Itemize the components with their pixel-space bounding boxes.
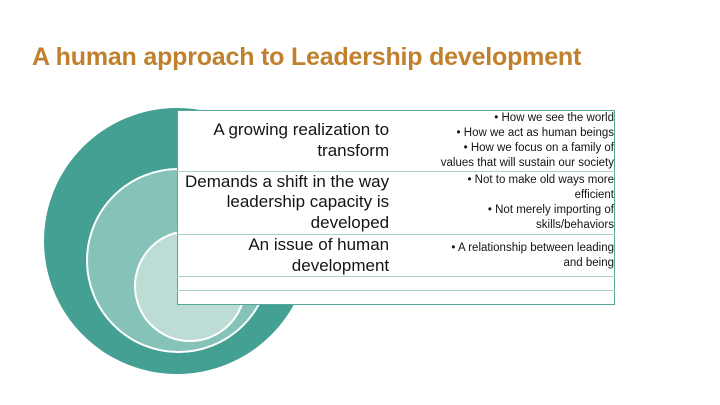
row-bullets-cell bbox=[389, 277, 614, 291]
row-heading-text: An issue of human development bbox=[248, 235, 389, 275]
bullet-line: • How we act as human beings bbox=[389, 126, 614, 141]
bullet-line: • How we focus on a family of bbox=[389, 141, 614, 156]
row-heading-cell: A growing realization to transform bbox=[178, 111, 390, 172]
bullet-line: skills/behaviors bbox=[389, 218, 614, 233]
slide-canvas: A human approach to Leadership developme… bbox=[0, 0, 720, 405]
row-heading-cell bbox=[178, 277, 390, 291]
bullet-line: • How we see the world bbox=[389, 111, 614, 126]
table-row: Demands a shift in the way leadership ca… bbox=[178, 171, 615, 234]
row-heading-cell bbox=[178, 291, 390, 305]
bullet-line: • Not to make old ways more bbox=[389, 173, 614, 188]
page-title: A human approach to Leadership developme… bbox=[32, 43, 581, 72]
table-row-empty bbox=[178, 291, 615, 305]
matrix-body: A growing realization to transform • How… bbox=[178, 111, 615, 305]
table-row: An issue of human development • A relati… bbox=[178, 234, 615, 276]
table-row: A growing realization to transform • How… bbox=[178, 111, 615, 172]
bullet-line: • A relationship between leading bbox=[389, 241, 614, 256]
table-row-empty bbox=[178, 277, 615, 291]
row-bullets-cell: • How we see the world • How we act as h… bbox=[389, 111, 614, 172]
bullet-line: and being bbox=[389, 256, 614, 271]
bullet-line: • Not merely importing of bbox=[389, 203, 614, 218]
row-heading-text: A growing realization to transform bbox=[213, 120, 389, 160]
row-heading-cell: An issue of human development bbox=[178, 234, 390, 276]
bullet-line: values that will sustain our society bbox=[389, 156, 614, 171]
row-bullets-cell bbox=[389, 291, 614, 305]
row-bullets-cell: • Not to make old ways more efficient • … bbox=[389, 171, 614, 234]
bullet-line: efficient bbox=[389, 188, 614, 203]
content-matrix-table: A growing realization to transform • How… bbox=[177, 110, 615, 305]
row-heading-cell: Demands a shift in the way leadership ca… bbox=[178, 171, 390, 234]
row-heading-text: Demands a shift in the way leadership ca… bbox=[185, 172, 389, 232]
row-bullets-cell: • A relationship between leading and bei… bbox=[389, 234, 614, 276]
